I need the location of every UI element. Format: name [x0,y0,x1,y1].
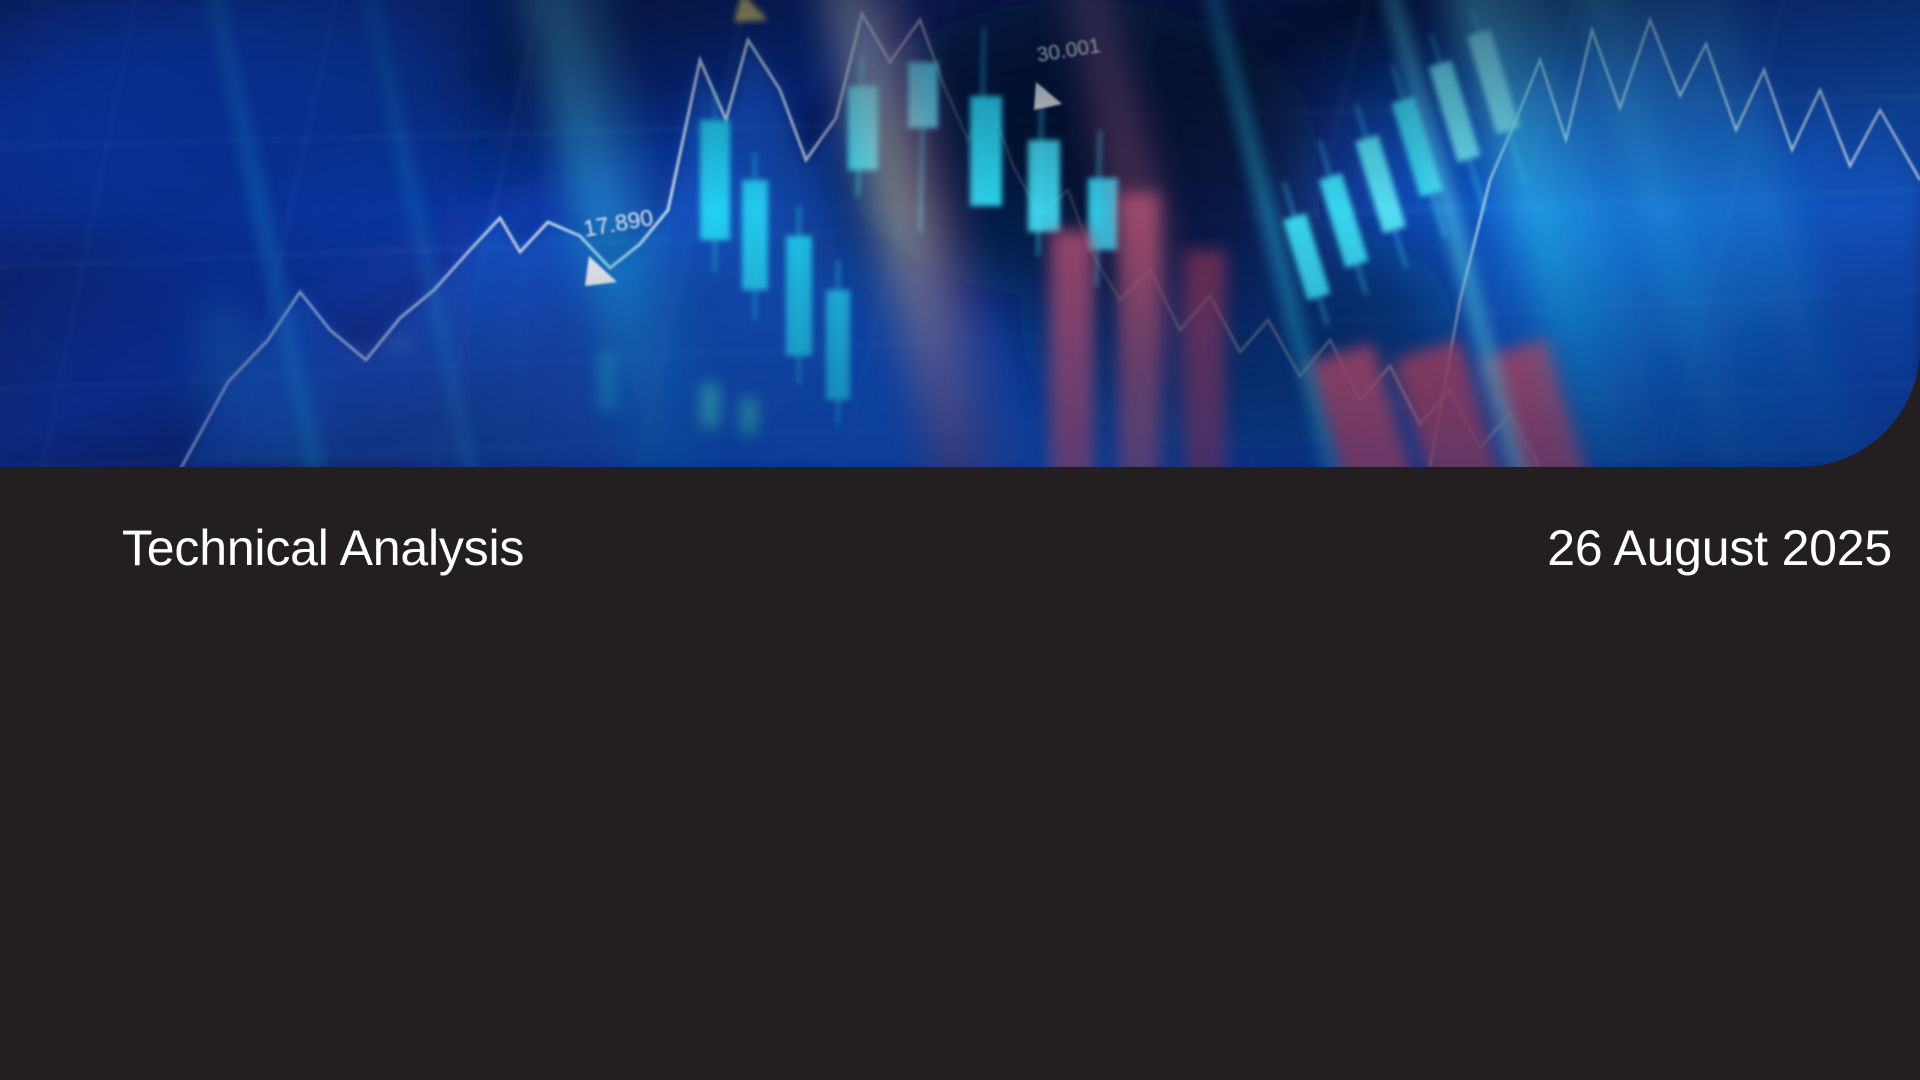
publish-date: 26 August 2025 [1547,523,1892,573]
hero-chart-graphic: 30.001 17.890 11.799 [0,0,1920,467]
hero-chart-image: 30.001 17.890 11.799 [0,0,1920,467]
kicker-label: Technical Analysis [122,523,524,573]
hero-defocus-left [0,0,470,467]
title-panel: Technical Analysis 26 August 2025 GOLD|U… [0,467,1920,1080]
technical-analysis-banner: 30.001 17.890 11.799 Technical Analysis [0,0,1920,1080]
meta-row: Technical Analysis 26 August 2025 [0,523,1920,573]
